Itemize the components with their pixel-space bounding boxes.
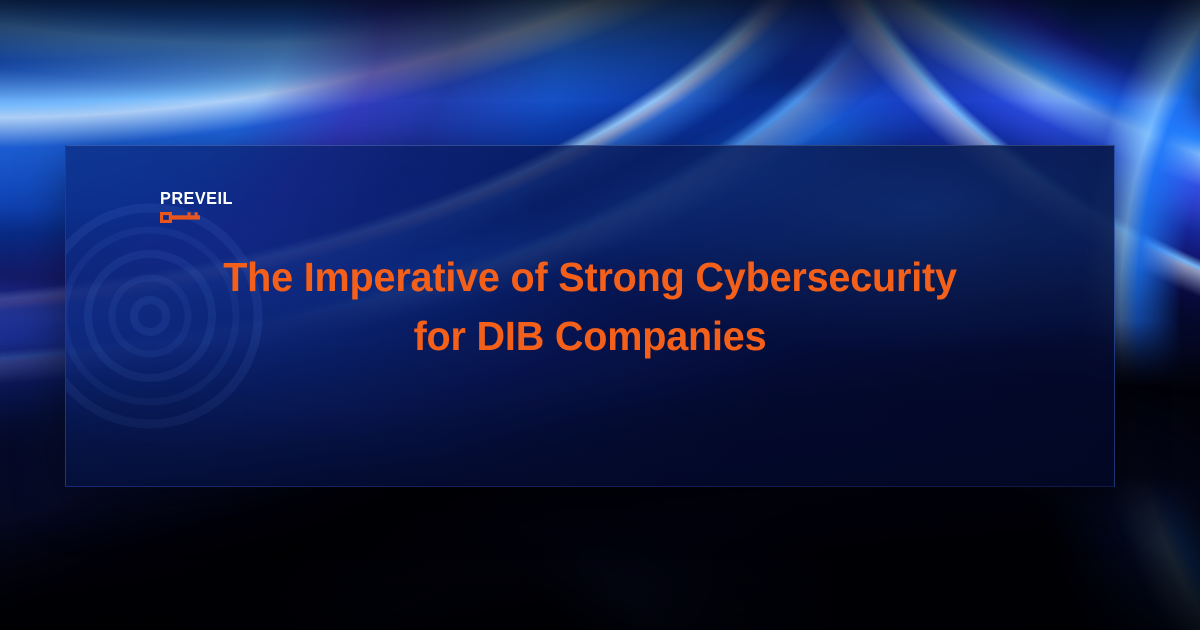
brand-logo: PREVEIL: [160, 190, 224, 224]
brand-wordmark: PREVEIL: [160, 190, 220, 208]
key-icon: [160, 211, 200, 224]
title-line-1: The Imperative of Strong Cybersecurity: [83, 248, 1096, 307]
title-line-2: for DIB Companies: [83, 307, 1096, 366]
background-top-vignette: [0, 0, 1200, 101]
banner-stage: PREVEIL The Imperative of Strong Cyberse…: [0, 0, 1200, 630]
page-title: The Imperative of Strong Cybersecurity f…: [83, 248, 1096, 366]
